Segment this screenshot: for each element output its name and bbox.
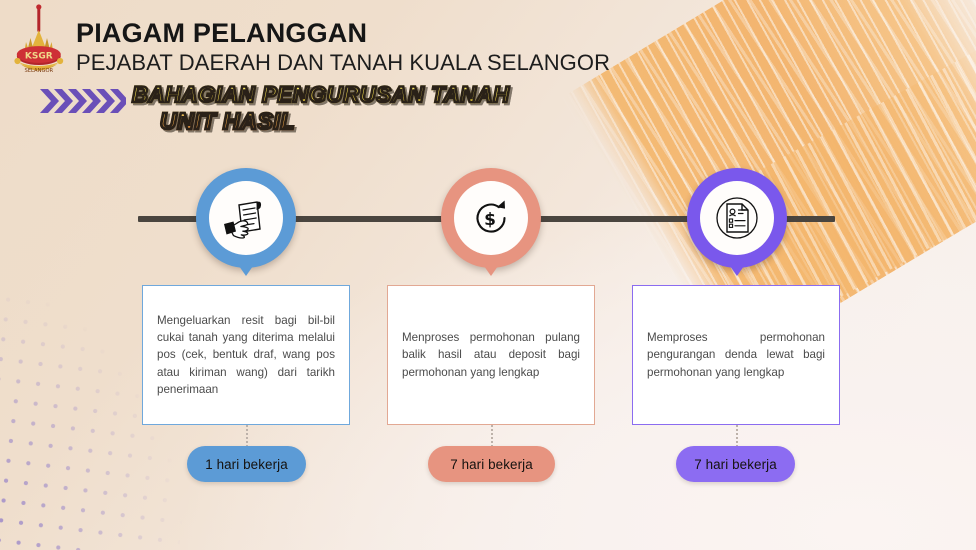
svg-text:KSGR: KSGR <box>25 52 53 62</box>
duration-badge-1[interactable]: 1 hari bekerja <box>187 446 306 482</box>
step-card-3: Memproses permohonan pengurangan denda l… <box>632 285 840 425</box>
step-card-3-text: Memproses permohonan pengurangan denda l… <box>633 329 839 380</box>
node-pointer-1 <box>232 256 260 276</box>
selangor-state-crest-icon: KSGR SELANGOR <box>8 4 70 84</box>
step-card-1-text: Mengeluarkan resit bagi bil-bil cukai ta… <box>143 312 349 398</box>
connector-dots-2 <box>491 425 493 447</box>
slide-canvas: KSGR SELANGOR PIAGAM PELANGGAN PEJABAT D… <box>0 0 976 550</box>
chevron-arrows-icon <box>40 88 126 119</box>
application-document-icon <box>700 181 774 255</box>
step-card-1: Mengeluarkan resit bagi bil-bil cukai ta… <box>142 285 350 425</box>
banner-line-2: UNIT HASIL <box>160 110 510 134</box>
svg-text:SELANGOR: SELANGOR <box>24 68 53 74</box>
page-subtitle: PEJABAT DAERAH DAN TANAH KUALA SELANGOR <box>76 50 610 76</box>
node-pointer-2 <box>477 256 505 276</box>
page-title: PIAGAM PELANGGAN <box>76 19 610 48</box>
duration-badge-3[interactable]: 7 hari bekerja <box>676 446 795 482</box>
timeline-node-3[interactable] <box>687 168 787 268</box>
step-card-2-text: Menproses permohonan pulang balik hasil … <box>388 329 594 380</box>
timeline-node-2[interactable]: $ <box>441 168 541 268</box>
header-titles: PIAGAM PELANGGAN PEJABAT DAERAH DAN TANA… <box>76 19 610 76</box>
timeline-node-1[interactable] <box>196 168 296 268</box>
svg-text:$: $ <box>484 210 496 230</box>
hand-holding-receipt-icon <box>209 181 283 255</box>
connector-dots-1 <box>246 425 248 447</box>
connector-dots-3 <box>736 425 738 447</box>
section-banner: BAHAGIAN PENGURUSAN TANAH UNIT HASIL <box>132 84 510 133</box>
node-pointer-3 <box>723 256 751 276</box>
money-refund-arrow-icon: $ <box>454 181 528 255</box>
duration-badge-2[interactable]: 7 hari bekerja <box>428 446 555 482</box>
banner-line-1: BAHAGIAN PENGURUSAN TANAH <box>132 84 510 107</box>
step-card-2: Menproses permohonan pulang balik hasil … <box>387 285 595 425</box>
